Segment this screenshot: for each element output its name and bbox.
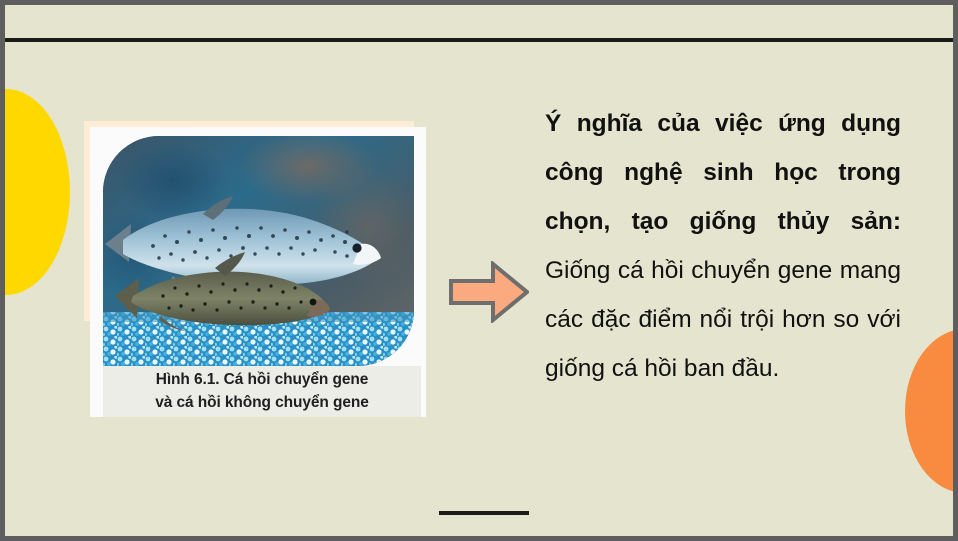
figure-caption-line-2: và cá hồi không chuyển gene [155, 392, 369, 414]
orange-circle-decoration [905, 329, 958, 493]
body-rest: Giống cá hồi chuyển gene mang các đặc đi… [545, 257, 901, 382]
right-arrow-icon [449, 261, 529, 323]
yellow-circle-decoration [0, 89, 70, 295]
figure-caption: Hình 6.1. Cá hồi chuyển gene và cá hồi k… [103, 366, 421, 417]
salmon-photo [103, 136, 414, 366]
top-divider-rule [5, 38, 958, 42]
figure-block: Hình 6.1. Cá hồi chuyển gene và cá hồi k… [84, 121, 429, 421]
figure-caption-line-1: Hình 6.1. Cá hồi chuyển gene [156, 369, 369, 391]
figure-card: Hình 6.1. Cá hồi chuyển gene và cá hồi k… [90, 127, 426, 417]
slide-canvas: Hình 6.1. Cá hồi chuyển gene và cá hồi k… [0, 0, 958, 541]
body-heading: Ý nghĩa của việc ứng dụng công nghệ sinh… [545, 110, 901, 235]
body-paragraph: Ý nghĩa của việc ứng dụng công nghệ sinh… [545, 99, 901, 393]
bottom-divider-rule [439, 511, 529, 515]
